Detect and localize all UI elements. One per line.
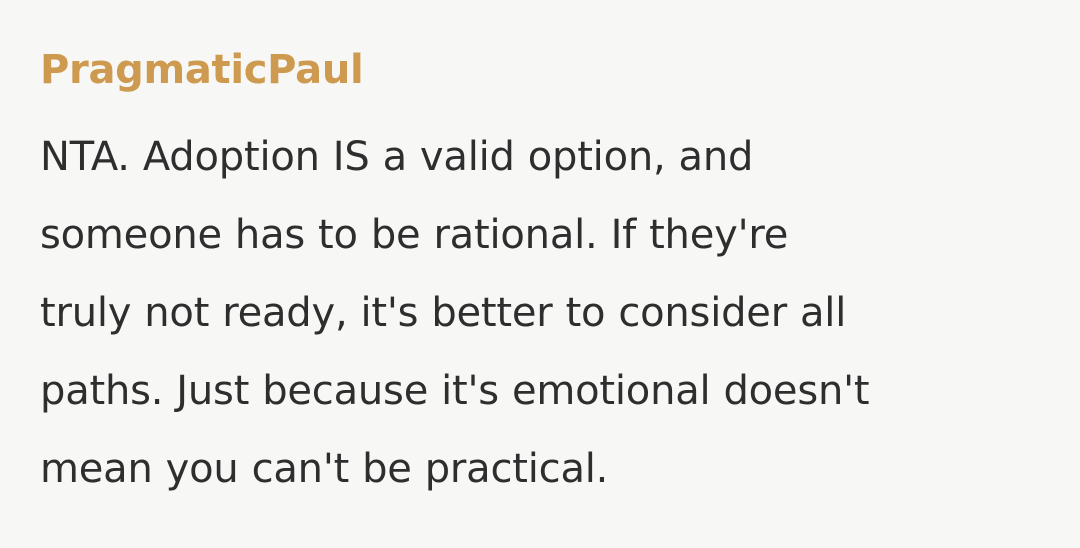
comment-body-line: paths. Just because it's emotional doesn… [40, 352, 1036, 430]
comment-body-line: mean you can't be practical. [40, 430, 1036, 508]
comment-body-line: truly not ready, it's better to consider… [40, 274, 1036, 352]
comment-body-text: NTA. Adoption IS a valid option, and som… [40, 118, 1036, 508]
comment-author-username[interactable]: PragmaticPaul [40, 44, 1036, 96]
comment-card: PragmaticPaul NTA. Adoption IS a valid o… [0, 0, 1080, 548]
comment-body-line: NTA. Adoption IS a valid option, and [40, 118, 1036, 196]
comment-body-line: someone has to be rational. If they're [40, 196, 1036, 274]
